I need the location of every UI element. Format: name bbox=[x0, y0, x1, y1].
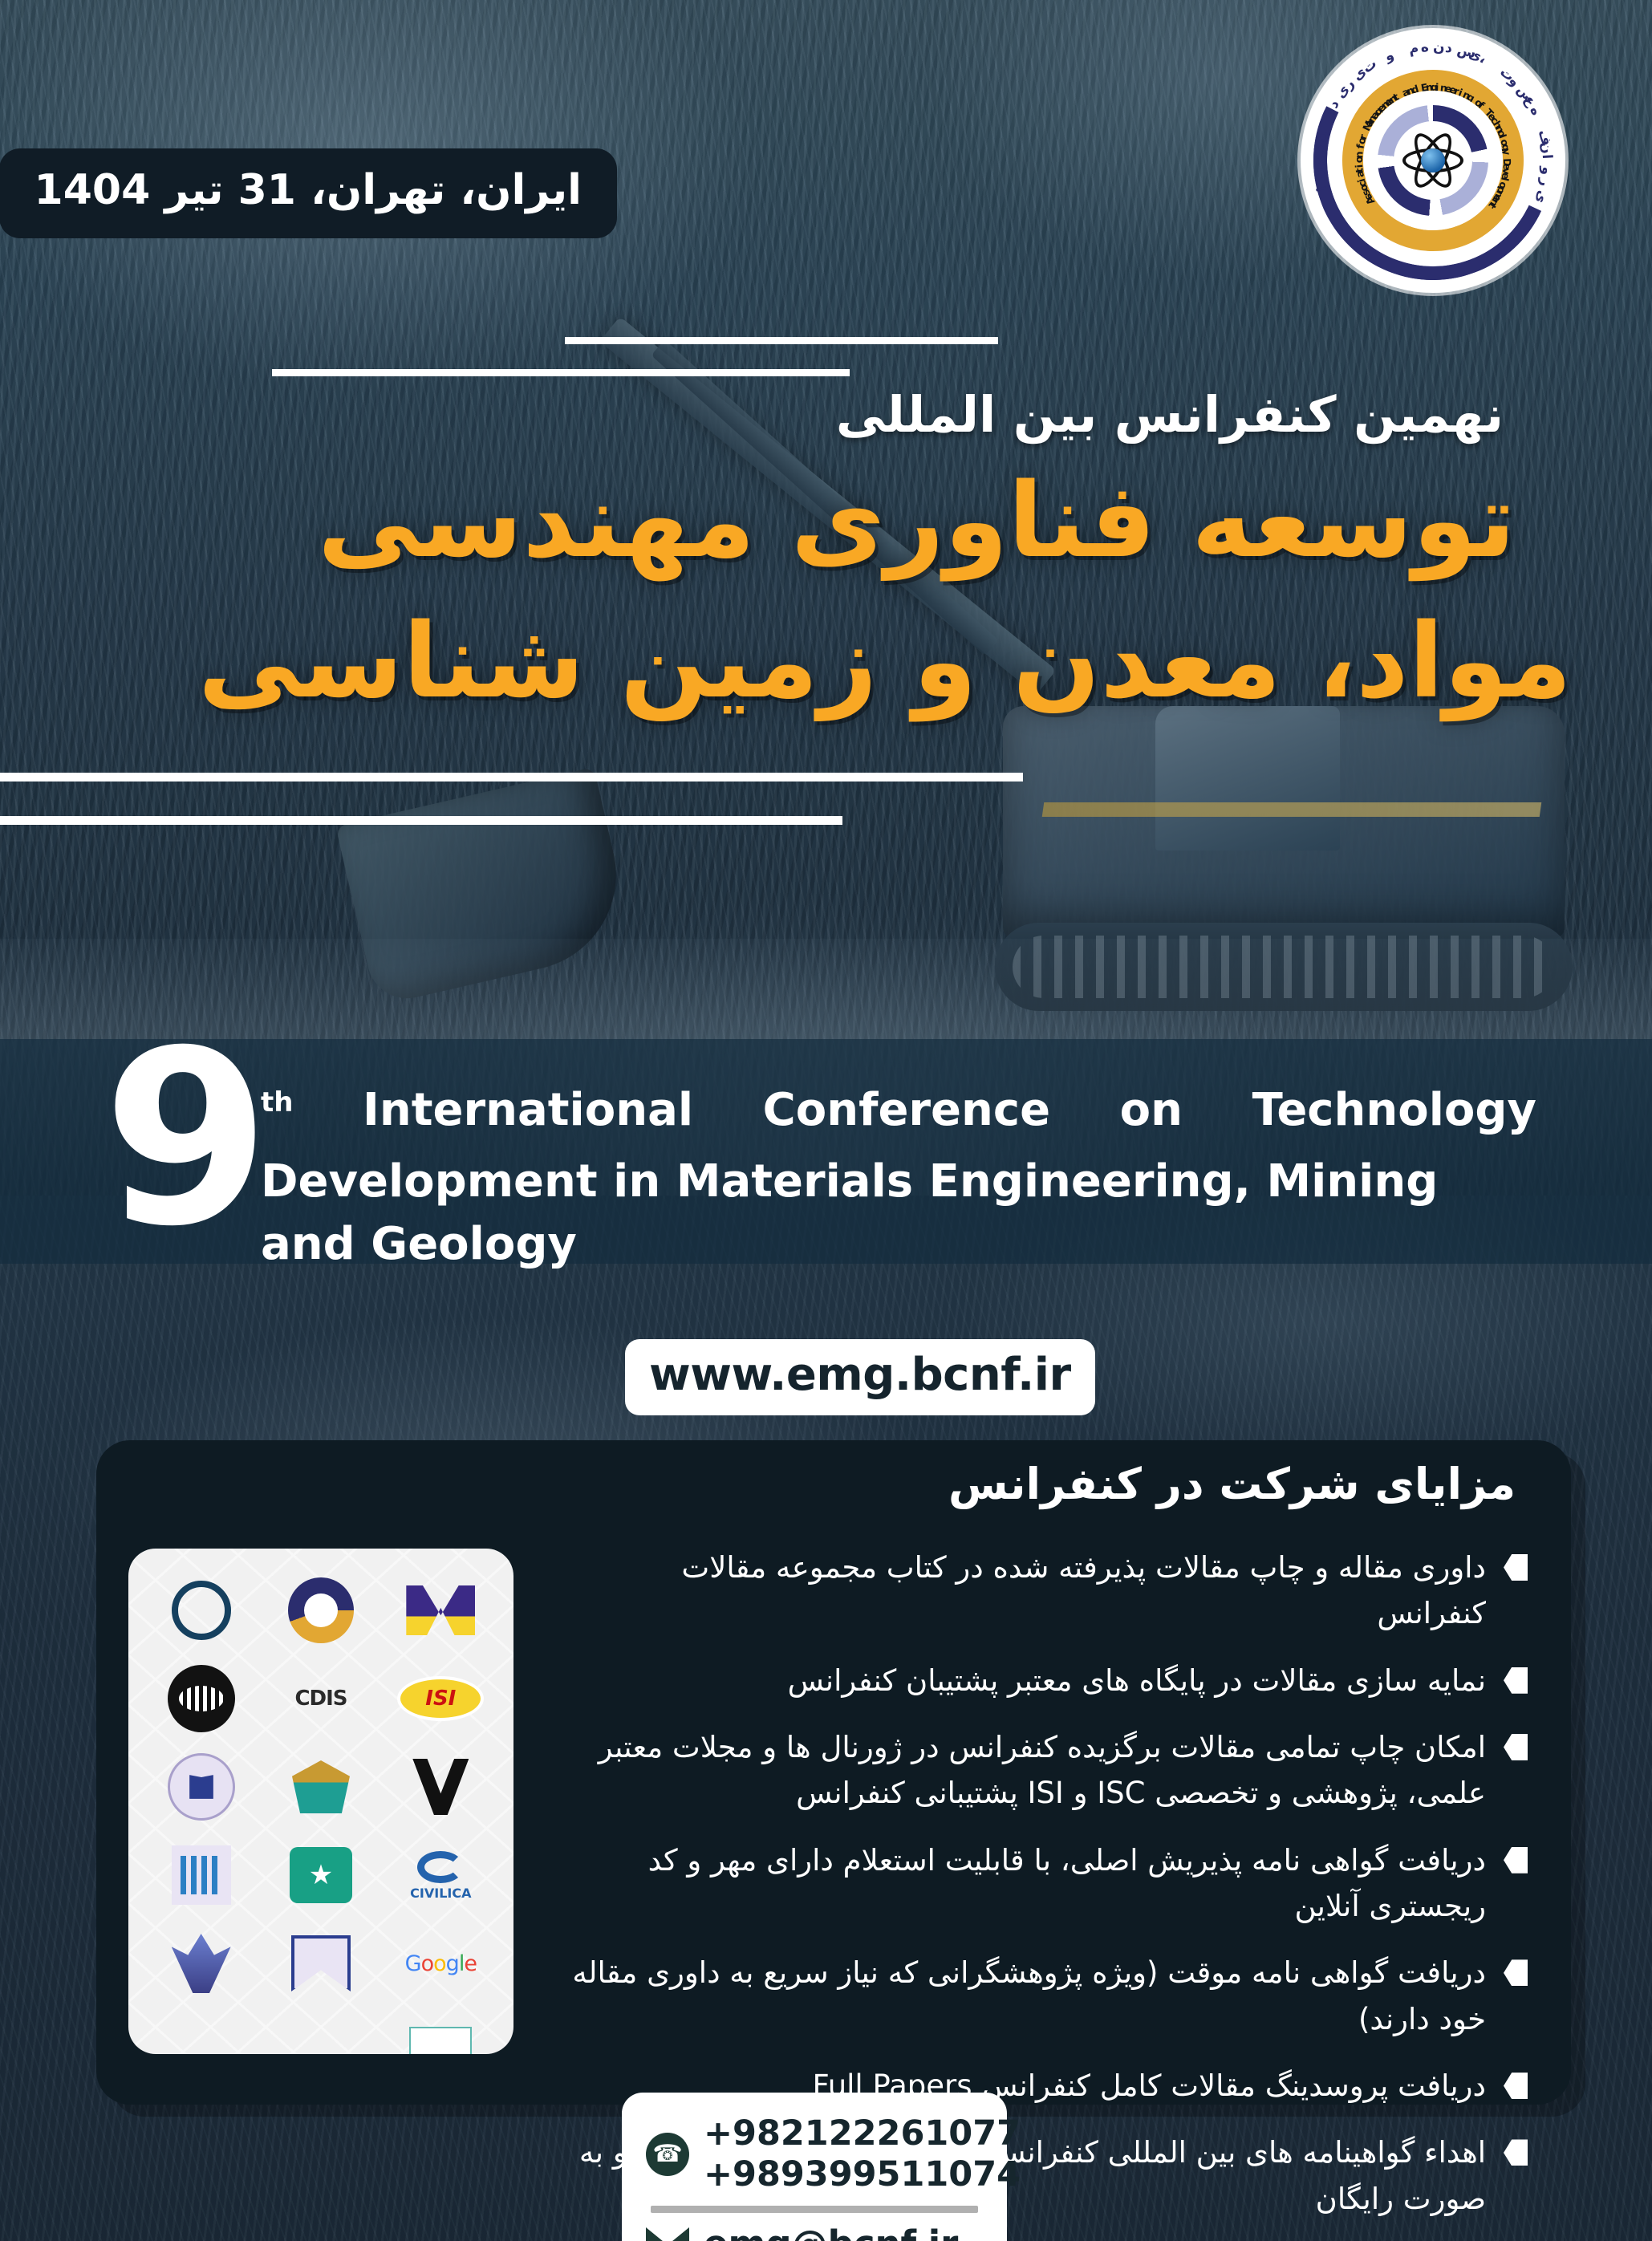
ordinal-suffix: th bbox=[261, 1079, 293, 1122]
contact-email-row: emg@bcnf.ir bbox=[646, 2223, 983, 2241]
sponsor-logo-association-emblem bbox=[277, 1566, 365, 1654]
edition-number: 9 bbox=[103, 1031, 270, 1248]
sponsor-logo-cdis: CDIS bbox=[277, 1654, 365, 1743]
decorative-rule-top-1 bbox=[565, 337, 998, 344]
benefit-item: دریافت گواهی نامه موقت (ویژه پژوهشگرانی … bbox=[565, 1950, 1528, 2042]
phone-icon: ☎ bbox=[646, 2133, 689, 2176]
sponsor-logo-azad-wings bbox=[157, 1919, 246, 2008]
excavator-cabin bbox=[1155, 706, 1340, 851]
benefit-text: دریافت گواهی نامه پذیریش اصلی، با قابلیت… bbox=[565, 1837, 1486, 1930]
persian-title-line1: توسعه فناوری مهندسی bbox=[152, 461, 1516, 581]
sponsor-logo-tpbin: TPBIN.com bbox=[396, 2008, 485, 2054]
sponsor-logo-islamic-azad-university bbox=[396, 1566, 485, 1654]
en-word-international: International bbox=[363, 1079, 693, 1141]
sponsor-logo-civilica: CIVILICA bbox=[396, 1831, 485, 1919]
sponsor-logo-isi: ISI bbox=[396, 1654, 485, 1743]
persian-subtitle: نهمین کنفرانس بین المللی bbox=[541, 385, 1504, 444]
english-title-line2: Development in Materials Engineering, Mi… bbox=[261, 1151, 1536, 1275]
conference-poster: ایران، تهران، 31 تیر 1404 انجمن مدیریت و… bbox=[0, 0, 1652, 2241]
benefit-item: دریافت گواهی نامه پذیریش اصلی، با قابلیت… bbox=[565, 1837, 1528, 1930]
envelope-icon bbox=[646, 2227, 689, 2241]
benefit-text: نمایه سازی مقالات در پایگاه های معتبر پش… bbox=[565, 1658, 1486, 1703]
sponsor-logo-higher-education-seal bbox=[157, 1743, 246, 1831]
benefits-title: مزایای شرکت در کنفرانس bbox=[948, 1459, 1516, 1509]
sponsor-logo-industrial-university-gear bbox=[157, 1654, 246, 1743]
decorative-rule-bottom-2 bbox=[0, 816, 842, 825]
sponsor-logo-google: Google bbox=[396, 1919, 485, 2008]
bullet-icon bbox=[1504, 1847, 1528, 1874]
decorative-rule-bottom-1 bbox=[0, 773, 1023, 782]
bullet-icon bbox=[1504, 2073, 1528, 2099]
contact-phone-row: ☎ +982122261077 +989399511074 bbox=[646, 2113, 983, 2194]
english-title: th International Conference on Technolog… bbox=[261, 1079, 1536, 1275]
sponsor-logo-sid: ★ bbox=[277, 1831, 365, 1919]
benefit-item: داوری مقاله و چاپ مقالات پذیرفته شده در … bbox=[565, 1545, 1528, 1637]
benefit-item: نمایه سازی مقالات در پایگاه های معتبر پش… bbox=[565, 1658, 1528, 1703]
contact-card: ☎ +982122261077 +989399511074 emg@bcnf.i… bbox=[622, 2093, 1007, 2241]
benefit-text: دریافت گواهی نامه موقت (ویژه پژوهشگرانی … bbox=[565, 1950, 1486, 2042]
bullet-icon bbox=[1504, 2139, 1528, 2166]
bullet-icon bbox=[1504, 1734, 1528, 1760]
en-word-conference: Conference bbox=[763, 1079, 1050, 1141]
sponsor-logo-university-seal-1 bbox=[157, 1566, 246, 1654]
en-word-technology: Technology bbox=[1252, 1079, 1536, 1141]
sponsor-logos-card: CDIS ISI ★ CIVILICA Google TPBIN.com bbox=[128, 1549, 513, 2054]
contact-phone-2: +989399511074 bbox=[704, 2154, 1021, 2195]
sponsor-logo-ministry-v bbox=[396, 1743, 485, 1831]
benefit-text: داوری مقاله و چاپ مقالات پذیرفته شده در … bbox=[565, 1545, 1486, 1637]
atom-icon bbox=[1402, 129, 1464, 192]
sponsor-logo-blank bbox=[157, 2008, 246, 2054]
excavator-stripe bbox=[1042, 802, 1542, 817]
sponsor-logo-ministry-science bbox=[157, 1831, 246, 1919]
contact-email[interactable]: emg@bcnf.ir bbox=[704, 2223, 958, 2241]
benefit-item: امکان چاپ تمامی مقالات برگزیده کنفرانس د… bbox=[565, 1724, 1528, 1817]
persian-title-line2: مواد، معدن و زمین شناسی bbox=[128, 602, 1572, 721]
sponsor-logo-scholar-book bbox=[277, 1919, 365, 2008]
contact-phone-numbers: +982122261077 +989399511074 bbox=[704, 2113, 1021, 2194]
benefit-text: امکان چاپ تمامی مقالات برگزیده کنفرانس د… bbox=[565, 1724, 1486, 1817]
bullet-icon bbox=[1504, 1959, 1528, 1986]
bullet-icon bbox=[1504, 1667, 1528, 1694]
association-logo: انجمن مدیریت و مهندسی، توسعه فناوری Asso… bbox=[1301, 28, 1565, 293]
decorative-rule-top-2 bbox=[272, 369, 850, 376]
date-badge: ایران، تهران، 31 تیر 1404 bbox=[0, 148, 617, 238]
english-title-line1: th International Conference on Technolog… bbox=[261, 1079, 1536, 1141]
website-url[interactable]: www.emg.bcnf.ir bbox=[625, 1339, 1095, 1415]
en-word-on: on bbox=[1120, 1079, 1183, 1141]
sponsor-logo-pen-book-emblem bbox=[277, 1743, 365, 1831]
bullet-icon bbox=[1504, 1554, 1528, 1581]
contact-divider bbox=[651, 2206, 978, 2213]
sponsor-logo-blank2 bbox=[277, 2008, 365, 2054]
globe-icon bbox=[1421, 148, 1445, 173]
contact-phone-1: +982122261077 bbox=[704, 2113, 1021, 2154]
